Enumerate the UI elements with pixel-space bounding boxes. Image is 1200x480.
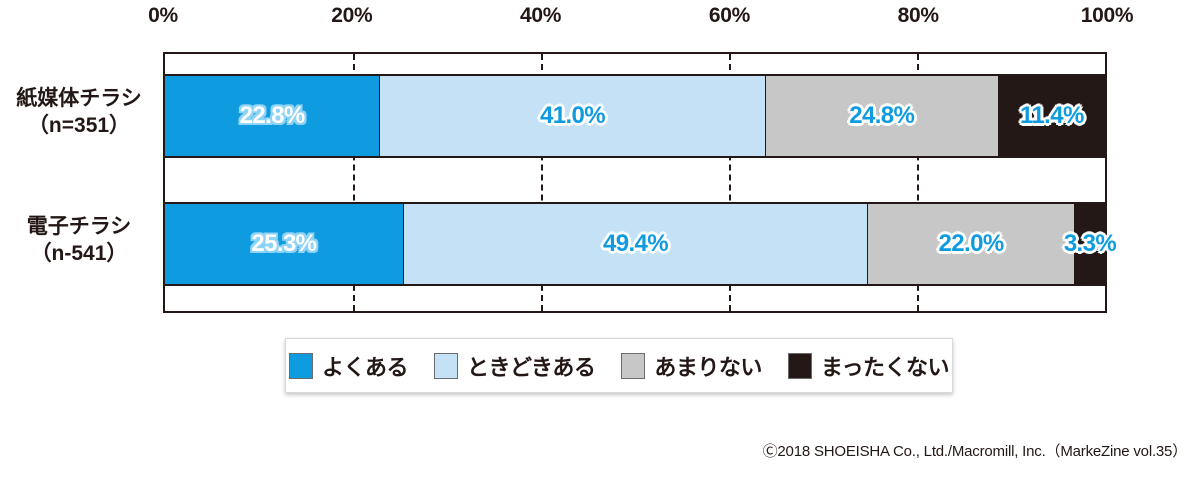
legend-item-label: あまりない [654, 350, 762, 382]
bar-segment[interactable]: 24.8% [765, 76, 998, 156]
bar-segment[interactable]: 49.4% [403, 204, 867, 284]
bar-segment[interactable]: 11.4% [998, 76, 1105, 156]
bar-segment-value-label: 22.0% [939, 230, 1004, 258]
category-label-row-0-name: 紙媒体チラシ [16, 87, 142, 110]
bar-segment-value-label: 49.4% [603, 230, 668, 258]
bar-row: 25.3%49.4%22.0%3.3% [163, 202, 1107, 286]
legend-item[interactable]: あまりない [621, 350, 762, 382]
bar-segment[interactable]: 22.0% [867, 204, 1074, 284]
bar-segment[interactable]: 22.8% [165, 76, 379, 156]
x-axis-tick-label: 0% [148, 4, 178, 28]
legend-item[interactable]: よくある [289, 350, 408, 382]
bar-segment-value-label: 25.3% [251, 230, 316, 258]
x-axis-tick-label: 20% [331, 4, 372, 28]
legend-item-label: まったくない [821, 350, 949, 382]
x-axis-tick-label: 60% [709, 4, 750, 28]
category-label-row-0: 紙媒体チラシ （n=351） [0, 86, 158, 140]
stacked-bar-chart: 0%20%40%60%80%100% 紙媒体チラシ （n=351） 電子チラシ … [0, 0, 1200, 480]
category-label-row-1: 電子チラシ （n-541） [0, 214, 158, 268]
x-axis-tick-label: 80% [898, 4, 939, 28]
legend-swatch-icon [434, 353, 458, 379]
x-axis-tick-label: 40% [520, 4, 561, 28]
x-axis-tick-labels: 0%20%40%60%80%100% [0, 0, 1200, 52]
legend-swatch-icon [788, 353, 812, 379]
legend-item-label: よくある [322, 350, 408, 382]
legend-item-label: ときどきある [467, 350, 595, 382]
bar-segment-value-label: 22.8% [240, 102, 305, 130]
category-label-row-0-count: （n=351） [0, 113, 158, 140]
bar-row: 22.8%41.0%24.8%11.4% [163, 74, 1107, 158]
legend-item[interactable]: ときどきある [434, 350, 595, 382]
chart-legend: よくあるときどきあるあまりないまったくない [285, 338, 953, 393]
legend-swatch-icon [621, 353, 645, 379]
legend-swatch-icon [289, 353, 313, 379]
legend-item[interactable]: まったくない [788, 350, 949, 382]
bar-segment[interactable]: 3.3% [1074, 204, 1105, 284]
bar-segment-value-label: 11.4% [1020, 102, 1084, 130]
bar-segment[interactable]: 41.0% [379, 76, 764, 156]
bar-segment-value-label: 3.3% [1064, 230, 1116, 258]
bar-segment[interactable]: 25.3% [165, 204, 403, 284]
category-label-row-1-name: 電子チラシ [27, 215, 132, 238]
category-label-row-1-count: （n-541） [0, 241, 158, 268]
x-axis-tick-label: 100% [1081, 4, 1134, 28]
copyright-credit: Ⓒ2018 SHOEISHA Co., Ltd./Macromill, Inc.… [763, 440, 1187, 461]
bar-segment-value-label: 41.0% [540, 102, 605, 130]
bar-segment-value-label: 24.8% [849, 102, 914, 130]
